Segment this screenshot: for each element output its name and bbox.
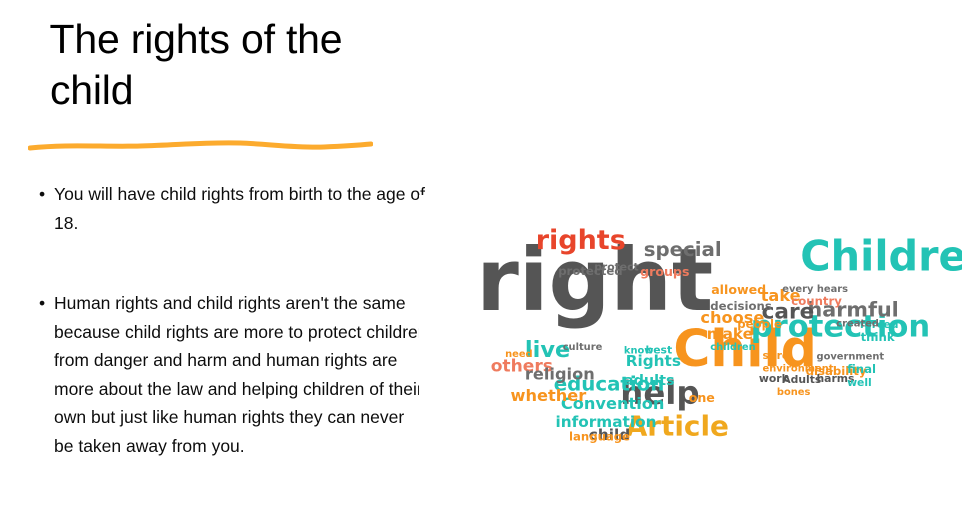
wordcloud-word: think	[861, 330, 895, 344]
wordcloud-word: need	[505, 349, 532, 360]
wordcloud-word: decisions	[710, 299, 772, 313]
wordcloud-word: sure	[763, 349, 790, 362]
wordcloud-word: religion	[525, 365, 595, 384]
wordcloud-word: Children	[800, 233, 962, 281]
wordcloud-word: language	[569, 430, 630, 444]
wordcloud-word: special	[644, 238, 722, 261]
wordcloud-word: culture	[563, 342, 603, 353]
slide: The rights of the child • You will have …	[0, 0, 962, 524]
wordcloud-word: know	[624, 345, 654, 356]
bullet-text-2: Human rights and child rights aren't the…	[54, 293, 428, 456]
wordcloud-word: protect	[594, 261, 638, 274]
title-block: The rights of the child	[0, 14, 430, 116]
title-underline-decoration	[28, 138, 373, 154]
wordcloud-image: rightChildrenChildprotectionrightsArticl…	[419, 195, 962, 465]
wordcloud-svg: rightChildrenChildprotectionrightsArticl…	[419, 195, 962, 465]
wordcloud-word: children	[710, 342, 755, 353]
list-item: • You will have child rights from birth …	[38, 180, 428, 237]
wordcloud-word: people	[737, 317, 782, 331]
wordcloud-word: well	[847, 376, 872, 389]
wordcloud-word: government	[817, 352, 885, 363]
wordcloud-word: one	[689, 390, 715, 405]
bullet-marker: •	[39, 180, 45, 209]
wordcloud-word: whether	[511, 386, 587, 405]
bullet-text-1: You will have child rights from birth to…	[54, 184, 425, 233]
body-text-block: • You will have child rights from birth …	[38, 180, 428, 460]
list-item: • Human rights and child rights aren't t…	[38, 289, 428, 460]
wordcloud-word: created	[836, 318, 879, 329]
bullet-marker: •	[39, 289, 45, 318]
wordcloud-word: country	[791, 294, 842, 308]
wordcloud-word: Adults	[782, 373, 821, 386]
wordcloud-word: bones	[777, 387, 811, 398]
page-title: The rights of the child	[0, 14, 430, 116]
wordcloud-word: final	[847, 362, 876, 376]
wordcloud-word: allowed	[711, 282, 766, 297]
wordcloud-word: adults	[624, 373, 675, 389]
bullet-spacer	[38, 237, 428, 289]
wordcloud-word: rights	[536, 225, 626, 256]
wordcloud-word: groups	[640, 264, 689, 279]
wordcloud-word: every hears	[782, 284, 848, 295]
